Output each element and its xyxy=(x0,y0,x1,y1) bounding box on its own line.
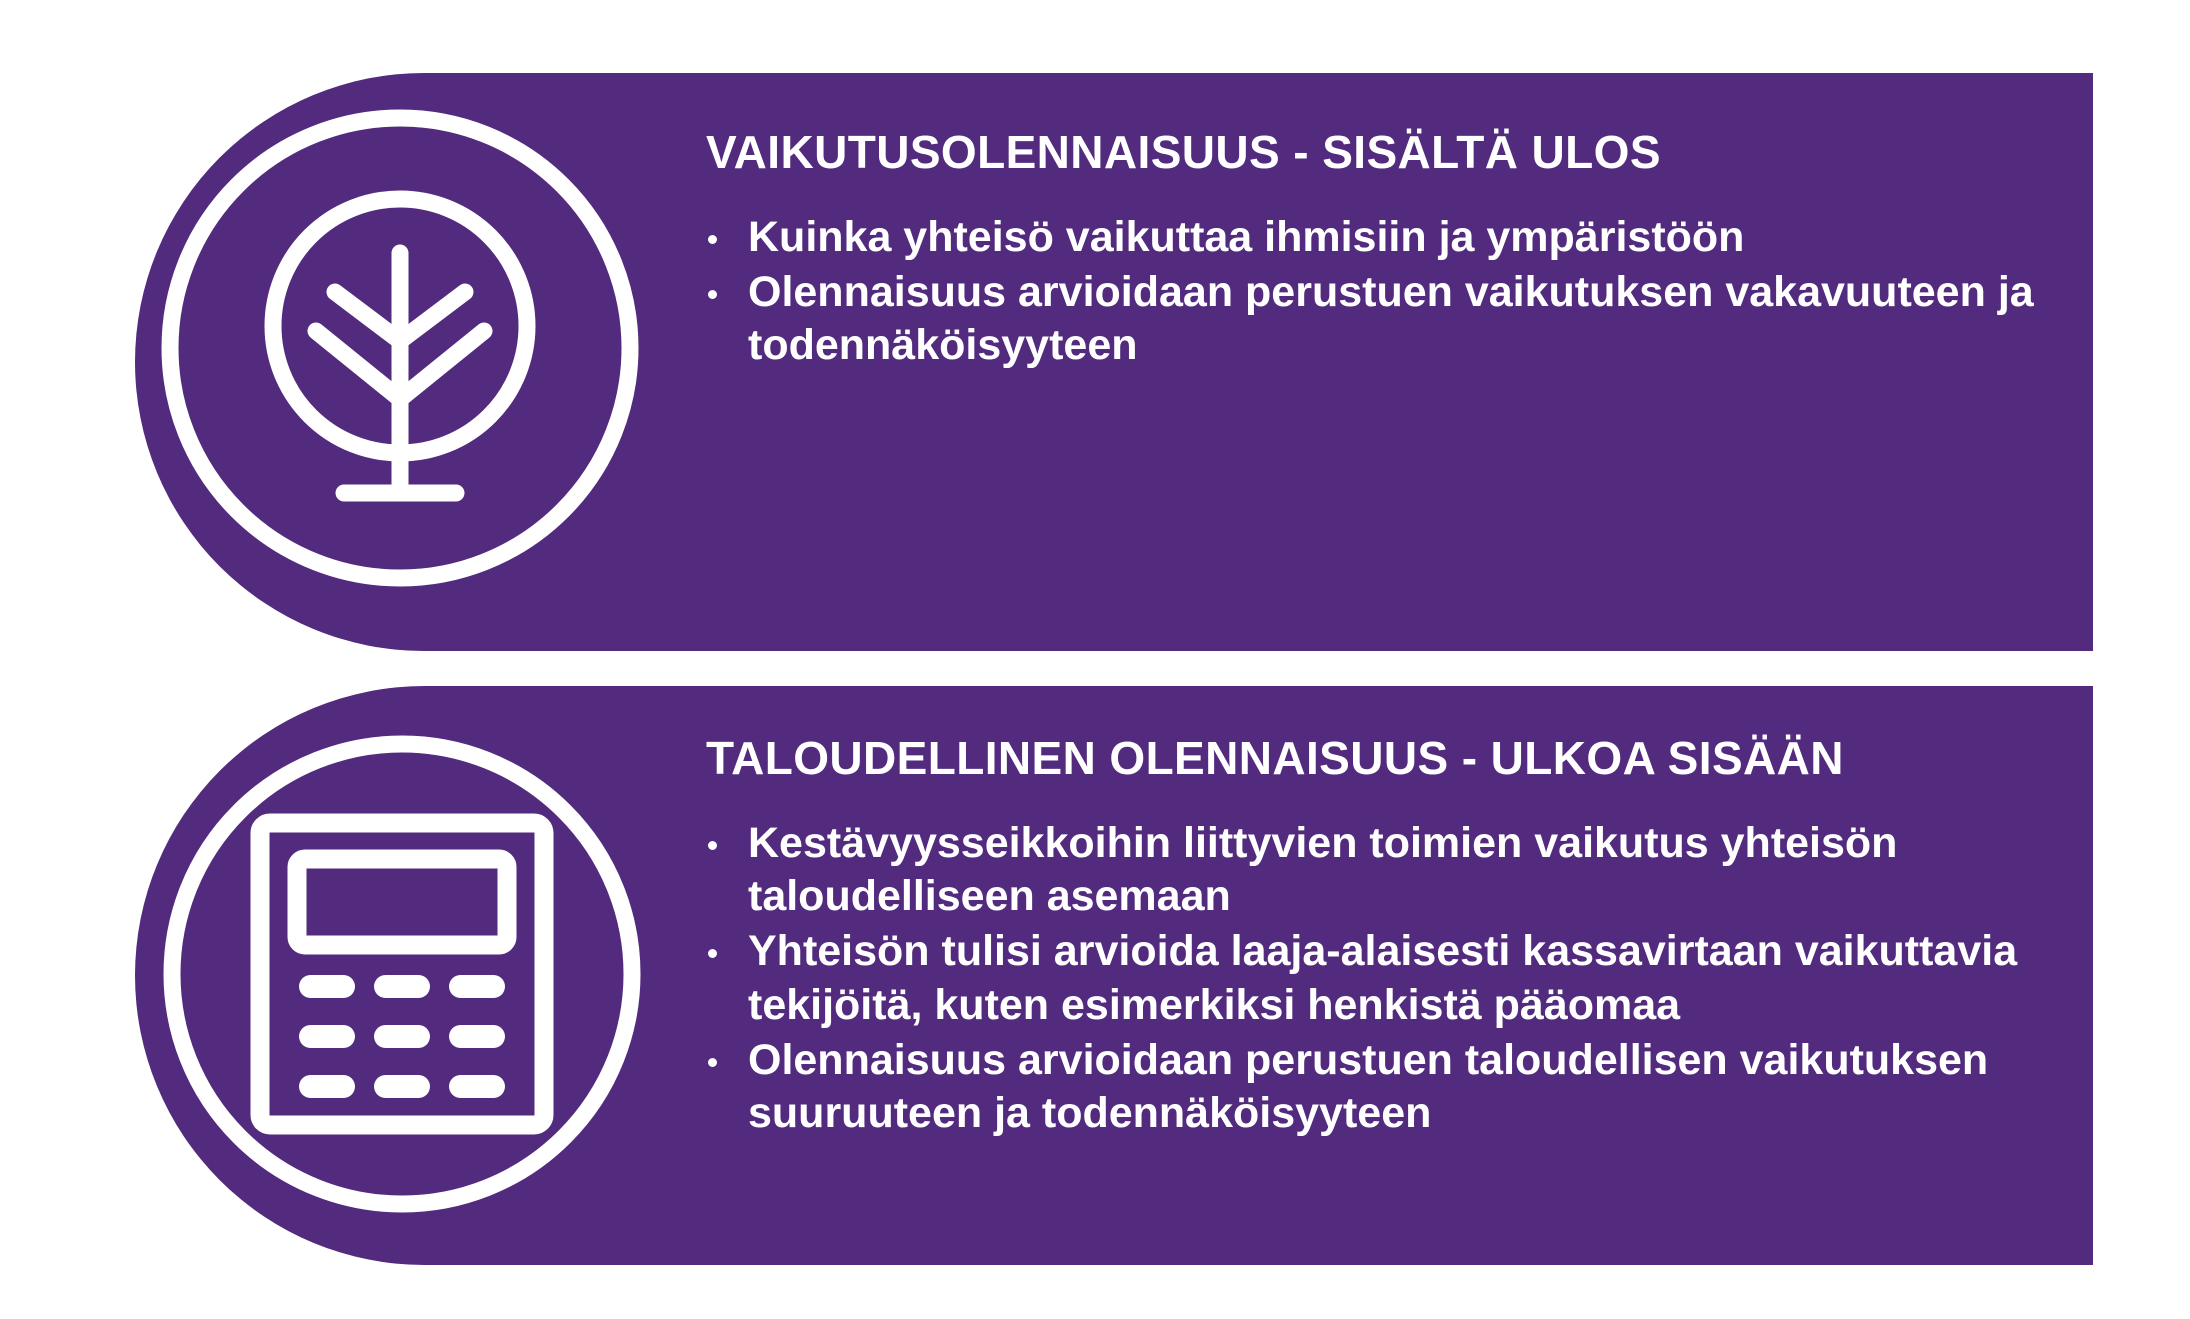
card-financial-content: TALOUDELLINEN OLENNAISUUS - ULKOA SISÄÄN… xyxy=(706,734,2096,1143)
bullet-dot-icon xyxy=(708,1058,717,1067)
list-item: Yhteisön tulisi arvioida laaja-alaisesti… xyxy=(706,925,2096,1032)
infographic-canvas: VAIKUTUSOLENNAISUUS - SISÄLTÄ ULOS Kuink… xyxy=(0,0,2190,1319)
card-impact-content: VAIKUTUSOLENNAISUUS - SISÄLTÄ ULOS Kuink… xyxy=(706,128,2036,375)
bullet-dot-icon xyxy=(708,949,717,958)
tree-icon xyxy=(161,109,639,587)
card-impact-heading: VAIKUTUSOLENNAISUUS - SISÄLTÄ ULOS xyxy=(706,128,2036,177)
card-financial-heading: TALOUDELLINEN OLENNAISUUS - ULKOA SISÄÄN xyxy=(706,734,2096,783)
list-item: Kuinka yhteisö vaikuttaa ihmisiin ja ymp… xyxy=(706,211,2036,264)
card-financial-materiality: TALOUDELLINEN OLENNAISUUS - ULKOA SISÄÄN… xyxy=(135,686,2093,1265)
card-financial-bullet-list: Kestävyysseikkoihin liittyvien toimien v… xyxy=(706,817,2096,1141)
list-item-label: Olennaisuus arvioidaan perustuen taloude… xyxy=(748,1034,2096,1141)
list-item-label: Olennaisuus arvioidaan perustuen vaikutu… xyxy=(748,266,2036,373)
bullet-dot-icon xyxy=(708,290,717,299)
list-item-label: Yhteisön tulisi arvioida laaja-alaisesti… xyxy=(748,925,2096,1032)
list-item-label: Kuinka yhteisö vaikuttaa ihmisiin ja ymp… xyxy=(748,211,2036,264)
list-item: Olennaisuus arvioidaan perustuen vaikutu… xyxy=(706,266,2036,373)
list-item: Kestävyysseikkoihin liittyvien toimien v… xyxy=(706,817,2096,924)
card-impact-bullet-list: Kuinka yhteisö vaikuttaa ihmisiin ja ymp… xyxy=(706,211,2036,373)
calculator-icon xyxy=(163,735,641,1213)
bullet-dot-icon xyxy=(708,841,717,850)
card-impact-materiality: VAIKUTUSOLENNAISUUS - SISÄLTÄ ULOS Kuink… xyxy=(135,73,2093,651)
bullet-dot-icon xyxy=(708,235,717,244)
list-item: Olennaisuus arvioidaan perustuen taloude… xyxy=(706,1034,2096,1141)
list-item-label: Kestävyysseikkoihin liittyvien toimien v… xyxy=(748,817,2096,924)
